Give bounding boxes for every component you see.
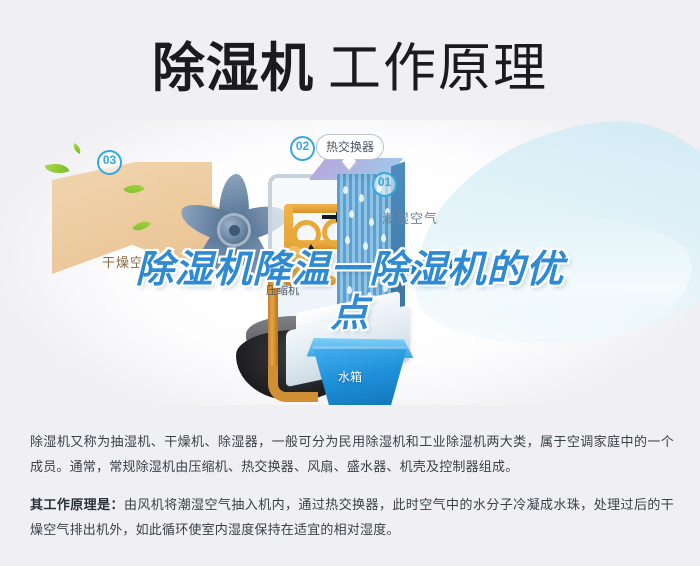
label-water-tank: 水箱 [338,368,362,385]
dehumidifier-working-principle-diagram: 03 02 01 热交换器 干燥空气 潮湿空气 压缩机 水箱 02 潮湿空气经过… [0,120,700,405]
paragraph-principle: 其工作原理是：由风机将潮湿空气抽入机内，通过热交换器，此时空气中的水分子冷凝成水… [30,492,674,542]
heat-exchanger-callout: 热交换器 [316,134,384,160]
paragraph-principle-rest: 由风机将潮湿空气抽入机内，通过热交换器，此时空气中的水分子冷凝成水珠，处理过后的… [30,497,674,537]
label-humid-air: 潮湿空气 [382,208,438,227]
paragraph-definition: 除湿机又称为抽湿机、干燥机、除湿器，一般可分为民用除湿机和工业除湿机两大类，属于… [30,429,674,479]
page-title: 除湿机工作原理 [0,26,700,102]
paragraph-principle-lead: 其工作原理是： [30,497,124,512]
fan-hub-core [229,225,240,236]
diagram-badge-01: 01 [372,172,397,197]
accumulator-cylinder [286,246,303,280]
label-compressor: 压缩机 [266,282,299,298]
page-title-part1: 除湿机 [152,39,314,98]
label-dry-air: 干燥空气 [102,252,158,271]
diagram-badge-03: 03 [97,150,122,175]
humid-air-inlet-arrow-icon [408,260,452,274]
article-body: 除湿机又称为抽湿机、干燥机、除湿器，一般可分为民用除湿机和工业除湿机两大类，属于… [30,416,674,554]
diagram-badge-02: 02 [290,136,315,161]
page-title-part2: 工作原理 [328,39,548,98]
